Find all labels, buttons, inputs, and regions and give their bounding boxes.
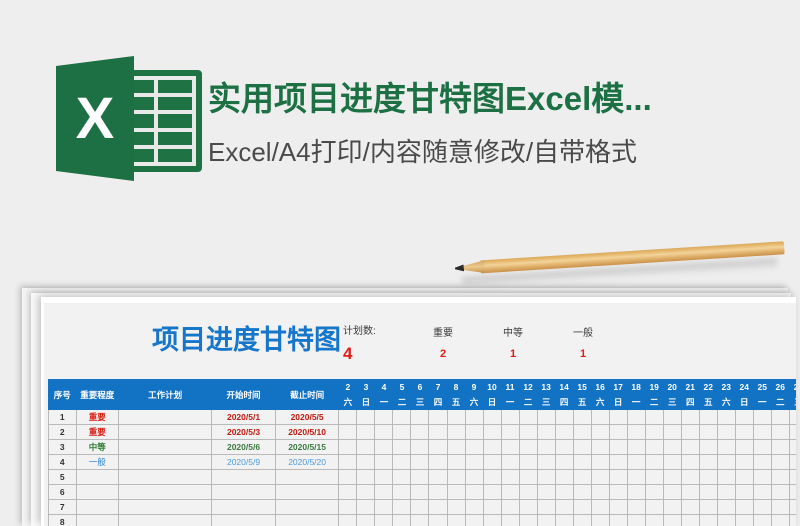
gantt-empty-cell[interactable] <box>447 515 465 526</box>
day-number-header[interactable]: 6 <box>411 380 429 395</box>
cell-start-date[interactable] <box>212 515 276 526</box>
column-header-1[interactable]: 重要程度 <box>76 380 118 410</box>
gantt-empty-cell[interactable] <box>411 455 429 470</box>
gantt-empty-cell[interactable] <box>627 470 645 485</box>
gantt-empty-cell[interactable] <box>537 470 555 485</box>
gantt-empty-cell[interactable] <box>555 485 573 500</box>
gantt-empty-cell[interactable] <box>483 485 501 500</box>
day-number-header[interactable]: 26 <box>771 380 789 395</box>
table-row[interactable]: 6 <box>49 485 797 500</box>
gantt-empty-cell[interactable] <box>393 500 411 515</box>
gantt-empty-cell[interactable] <box>429 500 447 515</box>
day-number-header[interactable]: 10 <box>483 380 501 395</box>
weekday-header[interactable]: 五 <box>699 395 717 410</box>
gantt-empty-cell[interactable] <box>645 500 663 515</box>
gantt-empty-cell[interactable] <box>375 500 393 515</box>
gantt-empty-cell[interactable] <box>429 410 447 425</box>
gantt-empty-cell[interactable] <box>717 440 735 455</box>
gantt-empty-cell[interactable] <box>663 410 681 425</box>
gantt-empty-cell[interactable] <box>771 410 789 425</box>
cell-importance[interactable] <box>76 485 118 500</box>
gantt-empty-cell[interactable] <box>375 470 393 485</box>
weekday-header[interactable]: 五 <box>447 395 465 410</box>
gantt-bar-cell[interactable] <box>537 455 555 470</box>
gantt-empty-cell[interactable] <box>393 485 411 500</box>
gantt-empty-cell[interactable] <box>735 455 753 470</box>
gantt-empty-cell[interactable] <box>393 455 411 470</box>
gantt-empty-cell[interactable] <box>483 470 501 485</box>
gantt-empty-cell[interactable] <box>447 500 465 515</box>
weekday-header[interactable]: 六 <box>465 395 483 410</box>
day-number-header[interactable]: 13 <box>537 380 555 395</box>
gantt-bar-cell[interactable] <box>555 455 573 470</box>
gantt-empty-cell[interactable] <box>699 440 717 455</box>
gantt-empty-cell[interactable] <box>789 455 796 470</box>
gantt-empty-cell[interactable] <box>609 425 627 440</box>
table-row[interactable]: 8 <box>49 515 797 526</box>
gantt-empty-cell[interactable] <box>519 410 537 425</box>
gantt-table-body[interactable]: 1重要2020/5/12020/5/52重要2020/5/32020/5/103… <box>49 410 797 526</box>
gantt-empty-cell[interactable] <box>555 500 573 515</box>
gantt-empty-cell[interactable] <box>573 425 591 440</box>
gantt-empty-cell[interactable] <box>591 470 609 485</box>
cell-end-date[interactable]: 2020/5/10 <box>275 425 339 440</box>
gantt-empty-cell[interactable] <box>357 440 375 455</box>
gantt-empty-cell[interactable] <box>573 485 591 500</box>
gantt-empty-cell[interactable] <box>609 410 627 425</box>
cell-end-date[interactable] <box>275 470 339 485</box>
gantt-empty-cell[interactable] <box>699 470 717 485</box>
day-number-header[interactable]: 12 <box>519 380 537 395</box>
cell-end-date[interactable]: 2020/5/20 <box>275 455 339 470</box>
weekday-header[interactable]: 六 <box>339 395 357 410</box>
gantt-empty-cell[interactable] <box>663 425 681 440</box>
cell-importance[interactable] <box>76 470 118 485</box>
gantt-empty-cell[interactable] <box>609 515 627 526</box>
gantt-empty-cell[interactable] <box>555 515 573 526</box>
gantt-empty-cell[interactable] <box>771 455 789 470</box>
gantt-empty-cell[interactable] <box>537 500 555 515</box>
gantt-empty-cell[interactable] <box>375 455 393 470</box>
gantt-empty-cell[interactable] <box>699 425 717 440</box>
gantt-empty-cell[interactable] <box>789 470 796 485</box>
weekday-header[interactable]: 三 <box>411 395 429 410</box>
gantt-empty-cell[interactable] <box>753 485 771 500</box>
gantt-bar-cell[interactable] <box>393 410 411 425</box>
gantt-empty-cell[interactable] <box>789 500 796 515</box>
gantt-empty-cell[interactable] <box>501 410 519 425</box>
gantt-empty-cell[interactable] <box>681 500 699 515</box>
gantt-bar-cell[interactable] <box>429 425 447 440</box>
gantt-bar-cell[interactable] <box>519 440 537 455</box>
gantt-bar-cell[interactable] <box>663 455 681 470</box>
gantt-empty-cell[interactable] <box>663 485 681 500</box>
cell-end-date[interactable]: 2020/5/5 <box>275 410 339 425</box>
gantt-empty-cell[interactable] <box>339 500 357 515</box>
gantt-empty-cell[interactable] <box>627 500 645 515</box>
day-number-header[interactable]: 25 <box>753 380 771 395</box>
column-header-2[interactable]: 工作计划 <box>118 380 211 410</box>
gantt-empty-cell[interactable] <box>663 515 681 526</box>
gantt-empty-cell[interactable] <box>753 470 771 485</box>
gantt-empty-cell[interactable] <box>681 440 699 455</box>
gantt-empty-cell[interactable] <box>663 500 681 515</box>
cell-importance[interactable]: 重要 <box>76 425 118 440</box>
gantt-empty-cell[interactable] <box>609 470 627 485</box>
cell-work-plan[interactable] <box>118 455 211 470</box>
gantt-empty-cell[interactable] <box>735 500 753 515</box>
gantt-empty-cell[interactable] <box>465 500 483 515</box>
gantt-empty-cell[interactable] <box>393 470 411 485</box>
day-number-header[interactable]: 3 <box>357 380 375 395</box>
gantt-empty-cell[interactable] <box>735 425 753 440</box>
gantt-empty-cell[interactable] <box>501 485 519 500</box>
gantt-empty-cell[interactable] <box>483 410 501 425</box>
gantt-empty-cell[interactable] <box>537 485 555 500</box>
gantt-empty-cell[interactable] <box>411 500 429 515</box>
gantt-empty-cell[interactable] <box>375 440 393 455</box>
gantt-bar-cell[interactable] <box>357 410 375 425</box>
cell-start-date[interactable]: 2020/5/3 <box>212 425 276 440</box>
gantt-empty-cell[interactable] <box>789 425 796 440</box>
weekday-header[interactable]: 四 <box>681 395 699 410</box>
gantt-empty-cell[interactable] <box>789 485 796 500</box>
gantt-empty-cell[interactable] <box>645 515 663 526</box>
cell-end-date[interactable]: 2020/5/15 <box>275 440 339 455</box>
cell-sequence[interactable]: 2 <box>49 425 77 440</box>
gantt-empty-cell[interactable] <box>771 515 789 526</box>
gantt-empty-cell[interactable] <box>627 440 645 455</box>
cell-work-plan[interactable] <box>118 485 211 500</box>
gantt-empty-cell[interactable] <box>627 485 645 500</box>
weekday-header[interactable]: 三 <box>537 395 555 410</box>
gantt-empty-cell[interactable] <box>735 515 753 526</box>
gantt-empty-cell[interactable] <box>591 440 609 455</box>
gantt-bar-cell[interactable] <box>483 455 501 470</box>
day-number-header[interactable]: 5 <box>393 380 411 395</box>
table-row[interactable]: 4一般2020/5/92020/5/20 <box>49 455 797 470</box>
gantt-empty-cell[interactable] <box>645 470 663 485</box>
gantt-empty-cell[interactable] <box>699 455 717 470</box>
day-number-header[interactable]: 18 <box>627 380 645 395</box>
cell-work-plan[interactable] <box>118 410 211 425</box>
gantt-empty-cell[interactable] <box>591 410 609 425</box>
weekday-header[interactable]: 日 <box>609 395 627 410</box>
gantt-empty-cell[interactable] <box>645 485 663 500</box>
gantt-bar-cell[interactable] <box>591 455 609 470</box>
day-number-header[interactable]: 22 <box>699 380 717 395</box>
gantt-bar-cell[interactable] <box>519 455 537 470</box>
gantt-bar-cell[interactable] <box>339 410 357 425</box>
gantt-empty-cell[interactable] <box>681 410 699 425</box>
day-number-header[interactable]: 20 <box>663 380 681 395</box>
gantt-bar-cell[interactable] <box>573 440 591 455</box>
day-number-header[interactable]: 8 <box>447 380 465 395</box>
gantt-empty-cell[interactable] <box>753 440 771 455</box>
day-number-header[interactable]: 19 <box>645 380 663 395</box>
gantt-empty-cell[interactable] <box>573 515 591 526</box>
cell-sequence[interactable]: 8 <box>49 515 77 526</box>
gantt-empty-cell[interactable] <box>555 425 573 440</box>
cell-sequence[interactable]: 7 <box>49 500 77 515</box>
gantt-bar-cell[interactable] <box>609 455 627 470</box>
day-number-header[interactable]: 15 <box>573 380 591 395</box>
day-number-header[interactable]: 24 <box>735 380 753 395</box>
gantt-empty-cell[interactable] <box>411 410 429 425</box>
gantt-empty-cell[interactable] <box>681 485 699 500</box>
gantt-empty-cell[interactable] <box>537 410 555 425</box>
gantt-empty-cell[interactable] <box>699 485 717 500</box>
gantt-empty-cell[interactable] <box>717 500 735 515</box>
cell-start-date[interactable]: 2020/5/6 <box>212 440 276 455</box>
day-number-header[interactable]: 2 <box>339 380 357 395</box>
weekday-header[interactable]: 三 <box>663 395 681 410</box>
gantt-empty-cell[interactable] <box>411 470 429 485</box>
weekday-header[interactable]: 四 <box>429 395 447 410</box>
gantt-bar-cell[interactable] <box>357 425 375 440</box>
gantt-bar-cell[interactable] <box>483 440 501 455</box>
gantt-empty-cell[interactable] <box>591 425 609 440</box>
gantt-empty-cell[interactable] <box>357 455 375 470</box>
gantt-empty-cell[interactable] <box>591 515 609 526</box>
gantt-empty-cell[interactable] <box>393 440 411 455</box>
gantt-empty-cell[interactable] <box>717 470 735 485</box>
cell-work-plan[interactable] <box>118 425 211 440</box>
gantt-empty-cell[interactable] <box>789 440 796 455</box>
gantt-empty-cell[interactable] <box>447 485 465 500</box>
gantt-empty-cell[interactable] <box>699 410 717 425</box>
weekday-header[interactable]: 一 <box>375 395 393 410</box>
gantt-bar-cell[interactable] <box>465 455 483 470</box>
gantt-bar-cell[interactable] <box>501 455 519 470</box>
gantt-empty-cell[interactable] <box>429 470 447 485</box>
gantt-empty-cell[interactable] <box>429 485 447 500</box>
weekday-header[interactable]: 二 <box>393 395 411 410</box>
cell-work-plan[interactable] <box>118 515 211 526</box>
table-row[interactable]: 1重要2020/5/12020/5/5 <box>49 410 797 425</box>
gantt-bar-cell[interactable] <box>447 440 465 455</box>
gantt-empty-cell[interactable] <box>753 425 771 440</box>
gantt-empty-cell[interactable] <box>573 470 591 485</box>
gantt-empty-cell[interactable] <box>591 485 609 500</box>
gantt-empty-cell[interactable] <box>411 515 429 526</box>
gantt-empty-cell[interactable] <box>717 410 735 425</box>
day-number-header[interactable]: 27 <box>789 380 796 395</box>
day-number-header[interactable]: 21 <box>681 380 699 395</box>
column-header-0[interactable]: 序号 <box>49 380 77 410</box>
gantt-empty-cell[interactable] <box>573 500 591 515</box>
weekday-header[interactable]: 四 <box>555 395 573 410</box>
gantt-bar-cell[interactable] <box>627 455 645 470</box>
gantt-empty-cell[interactable] <box>519 515 537 526</box>
gantt-empty-cell[interactable] <box>555 470 573 485</box>
gantt-empty-cell[interactable] <box>339 515 357 526</box>
cell-work-plan[interactable] <box>118 500 211 515</box>
day-number-header[interactable]: 23 <box>717 380 735 395</box>
weekday-header[interactable]: 二 <box>519 395 537 410</box>
gantt-empty-cell[interactable] <box>573 410 591 425</box>
weekday-header[interactable]: 一 <box>753 395 771 410</box>
gantt-empty-cell[interactable] <box>681 425 699 440</box>
gantt-empty-cell[interactable] <box>717 515 735 526</box>
gantt-bar-cell[interactable] <box>375 410 393 425</box>
gantt-empty-cell[interactable] <box>537 425 555 440</box>
gantt-empty-cell[interactable] <box>501 515 519 526</box>
gantt-empty-cell[interactable] <box>645 425 663 440</box>
cell-start-date[interactable]: 2020/5/9 <box>212 455 276 470</box>
day-number-header[interactable]: 16 <box>591 380 609 395</box>
gantt-bar-cell[interactable] <box>483 425 501 440</box>
gantt-bar-cell[interactable] <box>501 440 519 455</box>
cell-end-date[interactable] <box>275 500 339 515</box>
cell-start-date[interactable] <box>212 500 276 515</box>
gantt-empty-cell[interactable] <box>771 425 789 440</box>
gantt-empty-cell[interactable] <box>357 470 375 485</box>
gantt-empty-cell[interactable] <box>591 500 609 515</box>
cell-importance[interactable]: 一般 <box>76 455 118 470</box>
gantt-empty-cell[interactable] <box>357 500 375 515</box>
weekday-header[interactable]: 六 <box>591 395 609 410</box>
gantt-empty-cell[interactable] <box>555 410 573 425</box>
gantt-empty-cell[interactable] <box>717 425 735 440</box>
gantt-bar-cell[interactable] <box>411 440 429 455</box>
gantt-empty-cell[interactable] <box>501 470 519 485</box>
gantt-empty-cell[interactable] <box>789 410 796 425</box>
gantt-empty-cell[interactable] <box>339 440 357 455</box>
gantt-empty-cell[interactable] <box>735 410 753 425</box>
day-number-header[interactable]: 14 <box>555 380 573 395</box>
cell-sequence[interactable]: 1 <box>49 410 77 425</box>
gantt-empty-cell[interactable] <box>771 485 789 500</box>
weekday-header[interactable]: 一 <box>627 395 645 410</box>
table-row[interactable]: 7 <box>49 500 797 515</box>
gantt-table[interactable]: 序号重要程度工作计划开始时间截止时间2345678910111213141516… <box>48 379 796 526</box>
gantt-bar-cell[interactable] <box>537 440 555 455</box>
day-number-header[interactable]: 4 <box>375 380 393 395</box>
weekday-header[interactable]: 六 <box>717 395 735 410</box>
gantt-empty-cell[interactable] <box>429 455 447 470</box>
cell-work-plan[interactable] <box>118 440 211 455</box>
weekday-header[interactable]: 三 <box>789 395 796 410</box>
gantt-empty-cell[interactable] <box>339 455 357 470</box>
column-header-3[interactable]: 开始时间 <box>212 380 276 410</box>
gantt-empty-cell[interactable] <box>501 500 519 515</box>
gantt-empty-cell[interactable] <box>735 485 753 500</box>
gantt-bar-cell[interactable] <box>645 455 663 470</box>
gantt-empty-cell[interactable] <box>699 515 717 526</box>
gantt-empty-cell[interactable] <box>735 440 753 455</box>
gantt-bar-cell[interactable] <box>411 425 429 440</box>
gantt-empty-cell[interactable] <box>483 500 501 515</box>
gantt-empty-cell[interactable] <box>465 470 483 485</box>
day-number-header[interactable]: 9 <box>465 380 483 395</box>
gantt-empty-cell[interactable] <box>357 515 375 526</box>
weekday-header[interactable]: 日 <box>483 395 501 410</box>
column-header-4[interactable]: 截止时间 <box>275 380 339 410</box>
gantt-empty-cell[interactable] <box>411 485 429 500</box>
weekday-header[interactable]: 二 <box>771 395 789 410</box>
gantt-empty-cell[interactable] <box>609 485 627 500</box>
gantt-empty-cell[interactable] <box>717 485 735 500</box>
gantt-empty-cell[interactable] <box>609 440 627 455</box>
gantt-empty-cell[interactable] <box>465 485 483 500</box>
gantt-empty-cell[interactable] <box>717 455 735 470</box>
gantt-empty-cell[interactable] <box>789 515 796 526</box>
gantt-empty-cell[interactable] <box>663 470 681 485</box>
gantt-empty-cell[interactable] <box>465 410 483 425</box>
weekday-header[interactable]: 日 <box>357 395 375 410</box>
gantt-bar-cell[interactable] <box>555 440 573 455</box>
cell-sequence[interactable]: 6 <box>49 485 77 500</box>
table-row[interactable]: 3中等2020/5/62020/5/15 <box>49 440 797 455</box>
cell-work-plan[interactable] <box>118 470 211 485</box>
gantt-bar-cell[interactable] <box>429 440 447 455</box>
gantt-empty-cell[interactable] <box>699 500 717 515</box>
cell-importance[interactable]: 重要 <box>76 410 118 425</box>
cell-end-date[interactable] <box>275 485 339 500</box>
gantt-empty-cell[interactable] <box>753 500 771 515</box>
gantt-empty-cell[interactable] <box>447 410 465 425</box>
gantt-empty-cell[interactable] <box>339 425 357 440</box>
cell-importance[interactable] <box>76 515 118 526</box>
gantt-empty-cell[interactable] <box>753 515 771 526</box>
gantt-empty-cell[interactable] <box>393 515 411 526</box>
gantt-empty-cell[interactable] <box>339 470 357 485</box>
weekday-header[interactable]: 一 <box>501 395 519 410</box>
day-number-header[interactable]: 17 <box>609 380 627 395</box>
gantt-empty-cell[interactable] <box>519 485 537 500</box>
gantt-empty-cell[interactable] <box>537 515 555 526</box>
gantt-empty-cell[interactable] <box>753 410 771 425</box>
gantt-empty-cell[interactable] <box>627 515 645 526</box>
gantt-empty-cell[interactable] <box>681 455 699 470</box>
gantt-empty-cell[interactable] <box>663 440 681 455</box>
cell-start-date[interactable] <box>212 485 276 500</box>
gantt-empty-cell[interactable] <box>483 515 501 526</box>
gantt-empty-cell[interactable] <box>519 500 537 515</box>
day-number-header[interactable]: 7 <box>429 380 447 395</box>
cell-start-date[interactable] <box>212 470 276 485</box>
gantt-empty-cell[interactable] <box>447 470 465 485</box>
cell-sequence[interactable]: 5 <box>49 470 77 485</box>
day-number-header[interactable]: 11 <box>501 380 519 395</box>
gantt-empty-cell[interactable] <box>519 425 537 440</box>
gantt-empty-cell[interactable] <box>609 500 627 515</box>
gantt-empty-cell[interactable] <box>735 470 753 485</box>
gantt-empty-cell[interactable] <box>519 470 537 485</box>
cell-start-date[interactable]: 2020/5/1 <box>212 410 276 425</box>
gantt-empty-cell[interactable] <box>501 425 519 440</box>
gantt-empty-cell[interactable] <box>771 470 789 485</box>
cell-end-date[interactable] <box>275 515 339 526</box>
weekday-header[interactable]: 日 <box>735 395 753 410</box>
gantt-bar-cell[interactable] <box>375 425 393 440</box>
cell-sequence[interactable]: 4 <box>49 455 77 470</box>
gantt-empty-cell[interactable] <box>681 515 699 526</box>
cell-sequence[interactable]: 3 <box>49 440 77 455</box>
gantt-empty-cell[interactable] <box>339 485 357 500</box>
table-row[interactable]: 2重要2020/5/32020/5/10 <box>49 425 797 440</box>
gantt-empty-cell[interactable] <box>645 410 663 425</box>
gantt-empty-cell[interactable] <box>771 500 789 515</box>
gantt-empty-cell[interactable] <box>753 455 771 470</box>
gantt-empty-cell[interactable] <box>375 515 393 526</box>
gantt-bar-cell[interactable] <box>465 440 483 455</box>
table-row[interactable]: 5 <box>49 470 797 485</box>
gantt-bar-cell[interactable] <box>573 455 591 470</box>
gantt-empty-cell[interactable] <box>681 470 699 485</box>
gantt-bar-cell[interactable] <box>465 425 483 440</box>
